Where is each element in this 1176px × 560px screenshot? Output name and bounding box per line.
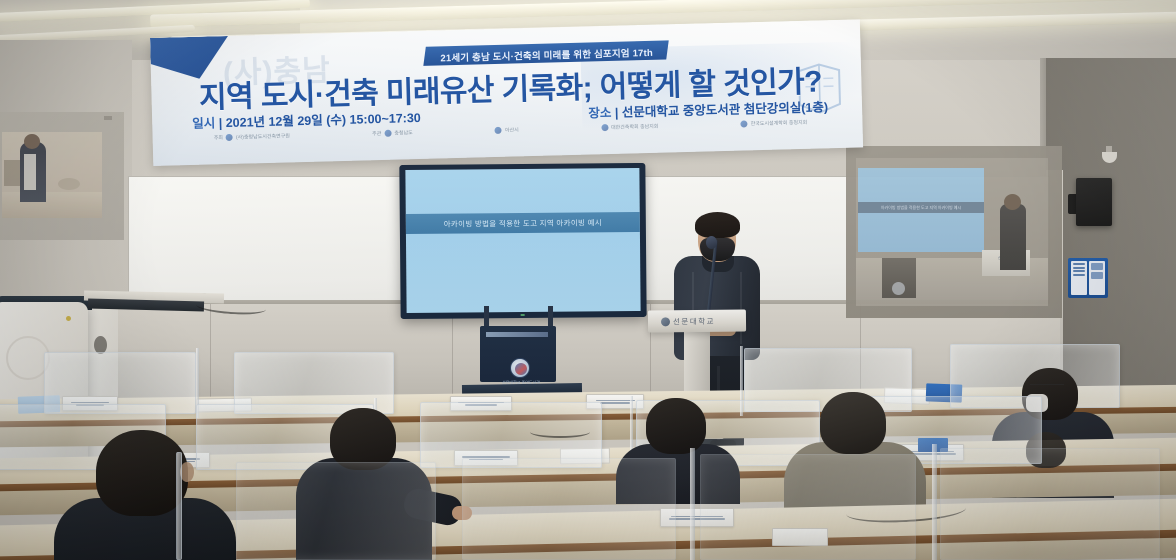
lectern-indicator-icon — [66, 316, 71, 321]
right-wall-projection: 아카이빙 방법을 적용한 도고 지역 아카이빙 예시 선문대학교 — [846, 146, 1062, 318]
sponsor-role: 주관 — [372, 130, 381, 137]
projected-object — [58, 178, 80, 190]
slide-caption-band: 아카이빙 방법을 적용한 도고 지역 아카이빙 예시 — [406, 212, 640, 234]
sponsor-name: 아산시 — [505, 126, 519, 133]
attendee-cap — [820, 392, 886, 454]
acrylic-divider — [462, 458, 676, 560]
wall-speaker — [1076, 178, 1112, 226]
power-led-icon — [521, 314, 525, 316]
banner-date-value: 2021년 12월 29일 (수) 15:00~17:30 — [226, 111, 421, 130]
front-display: 아카이빙 방법을 적용한 도고 지역 아카이빙 예시 — [399, 163, 646, 319]
projected-speaker-head — [1004, 194, 1021, 210]
banner-place-sep: | — [615, 106, 619, 120]
sponsor-logo-icon — [601, 124, 608, 131]
cart-equipment-panel — [486, 332, 548, 337]
sponsor-item: 아산시 — [495, 126, 519, 134]
wall-panel-seam — [210, 304, 211, 400]
sign-pictogram-column — [1089, 261, 1105, 295]
speaker-hair — [695, 212, 740, 238]
projected-slide-caption: 아카이빙 방법을 적용한 도고 지역 아카이빙 예시 — [881, 205, 961, 211]
symposium-banner: (사)충남 21세기 충남 도시·건축의 미래를 위한 심포지엄 17th 지역… — [150, 19, 863, 166]
cable — [530, 426, 590, 438]
projected-person-head — [24, 134, 40, 149]
acrylic-divider — [700, 454, 916, 560]
university-logo-icon — [661, 317, 670, 326]
sponsor-item: 주최 (사)충청남도시건축연구원 — [214, 132, 290, 141]
sponsor-item: 대한건축학회 충남지회 — [601, 123, 659, 131]
sign-text-column — [1071, 261, 1087, 295]
left-wall-projection — [0, 112, 124, 240]
slide-caption: 아카이빙 방법을 적용한 도고 지역 아카이빙 예시 — [444, 217, 602, 229]
banner-place-key: 장소 — [588, 106, 611, 121]
divider-post — [176, 452, 182, 560]
sponsor-logo-icon — [741, 120, 748, 127]
sponsor-logo-icon — [384, 130, 391, 137]
left-projection-image — [2, 132, 102, 218]
sponsor-item: 주관 충청남도 — [372, 129, 413, 137]
attendee-head — [96, 430, 188, 516]
sponsor-logo-icon — [495, 127, 502, 134]
display-screen: 아카이빙 방법을 적용한 도고 지역 아카이빙 예시 — [405, 168, 640, 313]
projected-slide-band: 아카이빙 방법을 적용한 도고 지역 아카이빙 예시 — [858, 202, 984, 213]
sponsor-name: 한국도시설계학회 충청지회 — [751, 119, 808, 127]
projected-slide: 아카이빙 방법을 적용한 도고 지역 아카이빙 예시 — [858, 168, 984, 252]
microphone-icon — [706, 236, 717, 249]
podium-label: 선문대학교 — [673, 316, 715, 327]
projected-speaker-body — [1000, 204, 1026, 270]
banner-date-key: 일시 — [192, 116, 215, 131]
lecture-hall-photograph: 아카이빙 방법을 적용한 도고 지역 아카이빙 예시 선문대학교 (사)충남 — [0, 0, 1176, 560]
sponsor-role: 주최 — [214, 134, 223, 141]
podium: 선문대학교 — [648, 309, 746, 332]
acrylic-divider — [236, 462, 436, 560]
projected-person-shirt — [24, 154, 36, 190]
right-projection-image: 아카이빙 방법을 적용한 도고 지역 아카이빙 예시 선문대학교 — [856, 158, 1048, 306]
projected-emblem — [892, 282, 905, 295]
sponsor-name: 충청남도 — [394, 129, 413, 136]
cart-leg — [548, 306, 553, 328]
acrylic-divider — [940, 448, 1160, 560]
divider-post — [932, 444, 937, 560]
projected-shelf — [4, 160, 20, 186]
sponsor-logo-icon — [226, 134, 233, 141]
sponsor-name: (사)충청남도시건축연구원 — [236, 132, 290, 140]
cart-leg — [484, 306, 489, 328]
attendee-head — [646, 398, 706, 454]
projection-corner-marker — [104, 116, 112, 120]
coat-seam — [740, 272, 742, 344]
university-emblem-icon — [510, 358, 530, 378]
eyeglasses-icon — [1030, 384, 1064, 391]
divider-post — [690, 448, 695, 560]
attendee-ear — [180, 462, 194, 482]
notice-sign — [1068, 258, 1108, 298]
attendee-head — [330, 408, 396, 470]
projected-desk — [2, 192, 102, 218]
banner-date-sep: | — [219, 116, 223, 130]
sponsor-name: 대한건축학회 충남지회 — [611, 123, 659, 131]
